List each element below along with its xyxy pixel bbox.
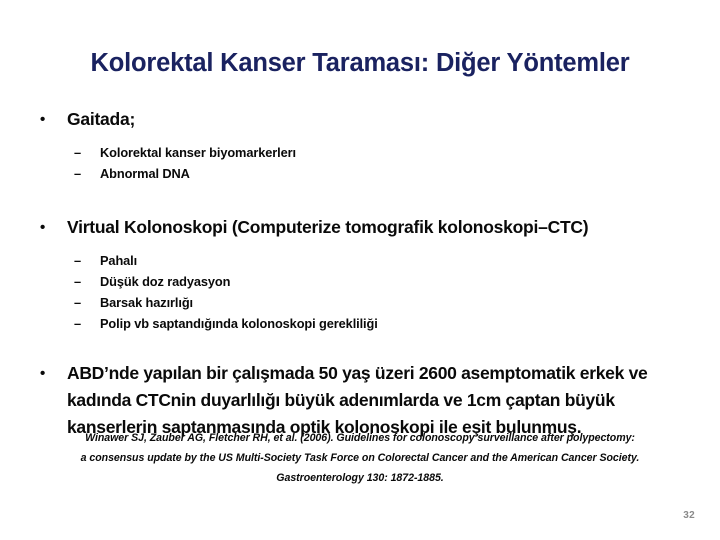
sub-bullet-item: – Kolorektal kanser biyomarkerlerı bbox=[0, 142, 720, 163]
slide-canvas: Kolorektal Kanser Taraması: Diğer Yöntem… bbox=[0, 0, 720, 540]
paragraph-line: ABD’nde yapılan bir çalışmada 50 yaş üze… bbox=[67, 360, 696, 387]
spacer bbox=[0, 184, 720, 214]
spacer bbox=[0, 334, 720, 360]
dash-icon: – bbox=[74, 250, 81, 271]
page-number: 32 bbox=[683, 510, 695, 521]
sub-bullet-item: – Pahalı bbox=[0, 250, 720, 271]
paragraph-line: kadında CTCnin duyarlılığı büyük adenıml… bbox=[67, 387, 696, 414]
sub-bullet-label: Abnormal DNA bbox=[100, 166, 190, 181]
citation-reference: Winawer SJ, Zauber AG, Fletcher RH, et a… bbox=[0, 428, 720, 488]
dash-icon: – bbox=[74, 313, 81, 334]
bullet-item-virtual-kolonoskopi: • Virtual Kolonoskopi (Computerize tomog… bbox=[0, 214, 720, 241]
dash-icon: – bbox=[74, 142, 81, 163]
sub-bullet-label: Polip vb saptandığında kolonoskopi gerek… bbox=[100, 316, 378, 331]
citation-line: Gastroenterology 130: 1872-1885. bbox=[0, 468, 720, 488]
spacer bbox=[0, 133, 720, 142]
bullet-item-gaitada: • Gaitada; bbox=[0, 106, 720, 133]
bullet-dot-icon: • bbox=[40, 214, 45, 241]
page-title: Kolorektal Kanser Taraması: Diğer Yöntem… bbox=[0, 49, 720, 77]
sub-bullet-label: Kolorektal kanser biyomarkerlerı bbox=[100, 145, 296, 160]
bullet-dot-icon: • bbox=[40, 106, 45, 133]
spacer bbox=[0, 241, 720, 250]
dash-icon: – bbox=[74, 292, 81, 313]
bullet-label: Gaitada; bbox=[67, 106, 720, 133]
citation-line: a consensus update by the US Multi-Socie… bbox=[0, 448, 720, 468]
bullet-dot-icon: • bbox=[40, 360, 45, 387]
bullet-label: Virtual Kolonoskopi (Computerize tomogra… bbox=[67, 214, 720, 241]
sub-bullet-label: Barsak hazırlığı bbox=[100, 295, 193, 310]
sub-bullet-item: – Düşük doz radyasyon bbox=[0, 271, 720, 292]
sub-bullet-item: – Polip vb saptandığında kolonoskopi ger… bbox=[0, 313, 720, 334]
dash-icon: – bbox=[74, 163, 81, 184]
sub-bullet-label: Düşük doz radyasyon bbox=[100, 274, 230, 289]
sub-bullet-item: – Abnormal DNA bbox=[0, 163, 720, 184]
slide-body: • Gaitada; – Kolorektal kanser biyomarke… bbox=[0, 106, 720, 441]
dash-icon: – bbox=[74, 271, 81, 292]
sub-bullet-label: Pahalı bbox=[100, 253, 137, 268]
citation-line: Winawer SJ, Zauber AG, Fletcher RH, et a… bbox=[0, 428, 720, 448]
sub-bullet-item: – Barsak hazırlığı bbox=[0, 292, 720, 313]
